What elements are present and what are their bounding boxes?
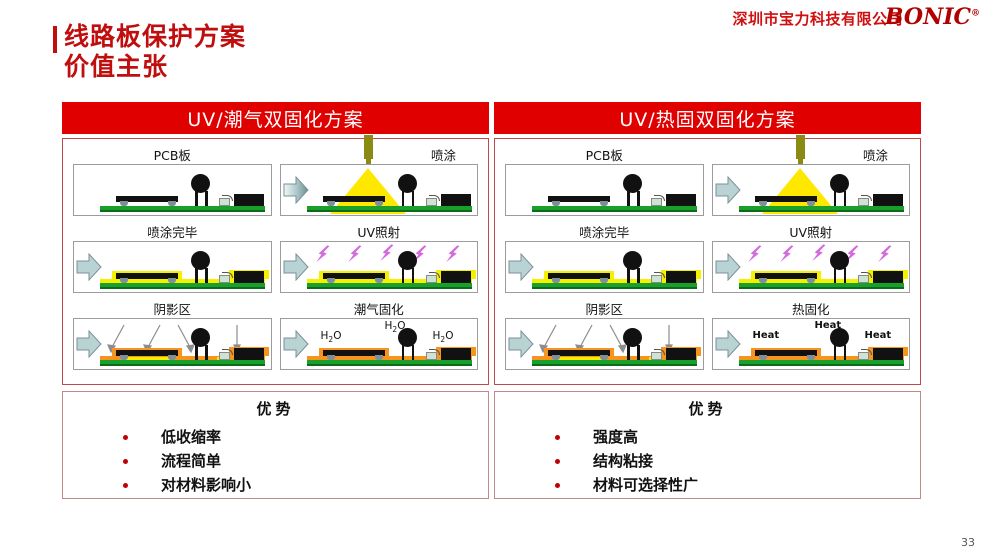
pcb-diagram-uv xyxy=(712,241,911,293)
capacitor-leg-left xyxy=(402,268,405,283)
capacitor-leg-right xyxy=(205,191,208,206)
pcb-board-shadow xyxy=(100,364,265,366)
capacitor-leg-right xyxy=(412,268,415,283)
smd-wire xyxy=(861,349,872,355)
flow-arrow-icon xyxy=(283,253,309,281)
process-step-spray-done: 喷涂完毕 xyxy=(69,222,276,299)
process-step-uv: UV照射 xyxy=(708,222,915,299)
ic-leg-left xyxy=(759,355,767,360)
capacitor-leg-left xyxy=(195,268,198,283)
smd-wire xyxy=(654,272,665,278)
flow-arrow-icon xyxy=(76,253,102,281)
ic-leg-right xyxy=(375,201,383,206)
advantage-item: 材料可选择性广 xyxy=(555,473,920,497)
column-heading-left: UV/潮气双固化方案 xyxy=(62,102,489,134)
step-label: 喷涂 xyxy=(712,147,911,164)
ic-leg-right xyxy=(600,201,608,206)
pcb-board-shadow xyxy=(532,210,697,212)
process-step-shadow: 阴影区 xyxy=(69,299,276,376)
flow-arrow-icon xyxy=(283,176,309,204)
capacitor-leg-left xyxy=(195,191,198,206)
step-label: 阴影区 xyxy=(73,301,272,318)
ic-leg-left xyxy=(327,278,335,283)
advantage-item: 流程简单 xyxy=(123,449,488,473)
capacitor-leg-right xyxy=(637,268,640,283)
chip-component xyxy=(234,348,264,360)
ic-leg-right xyxy=(807,355,815,360)
ic-leg-left xyxy=(327,201,335,206)
smd-wire xyxy=(654,349,665,355)
ic-leg-right xyxy=(168,278,176,283)
uv-bolt-icon xyxy=(809,242,827,265)
chip-component xyxy=(873,194,903,206)
ic-leg-right xyxy=(807,201,815,206)
process-step-spray: 喷涂 xyxy=(708,145,915,222)
process-step-shadow: 阴影区 xyxy=(501,299,708,376)
capacitor-leg-right xyxy=(412,345,415,360)
pcb-diagram-cure: Heat Heat Heat xyxy=(712,318,911,370)
registered-mark-icon: ® xyxy=(971,9,980,19)
ic-leg-left xyxy=(327,355,335,360)
capacitor-leg-right xyxy=(205,345,208,360)
smd-wire xyxy=(861,272,872,278)
smd-wire xyxy=(222,272,233,278)
uv-bolt-icon xyxy=(777,243,795,266)
process-step-cure: 热固化 Heat Heat Heat xyxy=(708,299,915,376)
pcb-diagram-coated xyxy=(73,241,272,293)
chip-component xyxy=(234,271,264,283)
capacitor-leg-right xyxy=(844,268,847,283)
process-panel-left: PCB板 喷涂 xyxy=(62,138,489,385)
column-uv-thermal: UV/热固双固化方案 PCB板 xyxy=(494,102,921,499)
advantage-item: 对材料影响小 xyxy=(123,473,488,497)
pcb-board-shadow xyxy=(307,287,472,289)
pcb-board-shadow xyxy=(532,364,697,366)
chip-component xyxy=(441,348,471,360)
step-label: 喷涂完毕 xyxy=(73,224,272,241)
column-heading-right: UV/热固双固化方案 xyxy=(494,102,921,134)
process-panel-right: PCB板 喷涂 xyxy=(494,138,921,385)
smd-wire xyxy=(861,195,872,201)
process-step-cure: 潮气固化 H2O H2O H2O xyxy=(276,299,483,376)
ic-leg-left xyxy=(552,355,560,360)
advantages-list: 强度高 结构粘接 材料可选择性广 xyxy=(495,425,920,497)
title-accent-bar xyxy=(53,26,57,53)
pcb-diagram-coated xyxy=(505,241,704,293)
advantage-item: 结构粘接 xyxy=(555,449,920,473)
cure-agent-tag-3: Heat xyxy=(865,330,892,341)
spray-nozzle-tip xyxy=(366,158,371,164)
pcb-board-shadow xyxy=(307,210,472,212)
capacitor-leg-left xyxy=(402,191,405,206)
pcb-board-shadow xyxy=(739,364,904,366)
chip-component xyxy=(234,194,264,206)
pcb-board-shadow xyxy=(739,210,904,212)
uv-bolt-icon xyxy=(345,243,363,266)
uv-bolt-icon xyxy=(745,243,763,266)
ic-leg-left xyxy=(120,201,128,206)
flow-arrow-icon xyxy=(715,330,741,358)
spray-nozzle xyxy=(364,135,373,159)
smd-wire xyxy=(222,195,233,201)
uv-bolt-icon xyxy=(875,243,893,266)
ic-leg-right xyxy=(168,201,176,206)
column-uv-moisture: UV/潮气双固化方案 PCB板 xyxy=(62,102,489,499)
chip-component xyxy=(441,194,471,206)
advantages-box-left: 优势 低收缩率 流程简单 对材料影响小 xyxy=(62,391,489,499)
uncured-shadow-zone-ic xyxy=(554,357,602,360)
capacitor-leg-right xyxy=(205,268,208,283)
pcb-diagram-shadow xyxy=(73,318,272,370)
process-step-uv: UV照射 xyxy=(276,222,483,299)
capacitor-leg-right xyxy=(844,191,847,206)
uv-bolt-icon xyxy=(443,243,461,266)
capacitor-leg-left xyxy=(834,191,837,206)
capacitor-leg-right xyxy=(637,345,640,360)
capacitor-leg-right xyxy=(637,191,640,206)
process-step-pcb: PCB板 xyxy=(69,145,276,222)
uncured-shadow-zone-ic xyxy=(122,357,170,360)
pcb-board-shadow xyxy=(307,364,472,366)
step-label: 喷涂完毕 xyxy=(505,224,704,241)
chip-component xyxy=(666,348,696,360)
pcb-diagram-uv xyxy=(280,241,479,293)
capacitor-leg-left xyxy=(834,345,837,360)
pcb-diagram-cure: H2O H2O H2O xyxy=(280,318,479,370)
flow-arrow-icon xyxy=(715,253,741,281)
ic-leg-right xyxy=(807,278,815,283)
ic-leg-left xyxy=(759,278,767,283)
flow-arrow-icon xyxy=(715,176,741,204)
ic-leg-left xyxy=(552,201,560,206)
cure-agent-tag-1: H2O xyxy=(321,330,342,344)
process-step-spray-done: 喷涂完毕 xyxy=(501,222,708,299)
smd-wire xyxy=(429,272,440,278)
capacitor-leg-left xyxy=(627,191,630,206)
step-label: 潮气固化 xyxy=(280,301,479,318)
uv-bolt-icon xyxy=(313,243,331,266)
spray-nozzle xyxy=(796,135,805,159)
uv-bolt-icon xyxy=(377,242,395,265)
capacitor-leg-left xyxy=(627,268,630,283)
smd-wire xyxy=(222,349,233,355)
advantages-title: 优势 xyxy=(495,398,920,419)
brand-text: BONIC xyxy=(885,4,971,30)
ic-leg-left xyxy=(120,278,128,283)
pcb-board-shadow xyxy=(532,287,697,289)
pcb-diagram-shadow xyxy=(505,318,704,370)
advantage-item: 强度高 xyxy=(555,425,920,449)
capacitor-leg-right xyxy=(412,191,415,206)
ic-leg-right xyxy=(600,278,608,283)
chip-component xyxy=(666,271,696,283)
chip-component xyxy=(441,271,471,283)
capacitor-leg-left xyxy=(195,345,198,360)
smd-wire xyxy=(429,349,440,355)
step-label: 热固化 xyxy=(712,301,911,318)
step-label: UV照射 xyxy=(712,224,911,241)
chip-component xyxy=(873,348,903,360)
company-name: 深圳市宝力科技有限公司 xyxy=(732,8,903,29)
capacitor-leg-left xyxy=(834,268,837,283)
advantages-title: 优势 xyxy=(63,398,488,419)
pcb-board-shadow xyxy=(100,287,265,289)
pcb-board-shadow xyxy=(100,210,265,212)
ic-leg-left xyxy=(120,355,128,360)
ic-leg-right xyxy=(375,278,383,283)
ic-leg-left xyxy=(552,278,560,283)
ic-leg-right xyxy=(600,355,608,360)
brand-logo: BONIC® xyxy=(885,4,980,30)
advantages-box-right: 优势 强度高 结构粘接 材料可选择性广 xyxy=(494,391,921,499)
chip-component xyxy=(666,194,696,206)
chip-component xyxy=(873,271,903,283)
ic-leg-right xyxy=(168,355,176,360)
step-label: UV照射 xyxy=(280,224,479,241)
process-step-pcb: PCB板 xyxy=(501,145,708,222)
ic-leg-left xyxy=(759,201,767,206)
capacitor-leg-right xyxy=(844,345,847,360)
flow-arrow-icon xyxy=(508,253,534,281)
pcb-board-shadow xyxy=(739,287,904,289)
smd-wire xyxy=(654,195,665,201)
pcb-diagram-bare xyxy=(73,164,272,216)
advantage-item: 低收缩率 xyxy=(123,425,488,449)
ic-leg-right xyxy=(375,355,383,360)
capacitor-leg-left xyxy=(402,345,405,360)
process-step-spray: 喷涂 xyxy=(276,145,483,222)
pcb-diagram-bare xyxy=(505,164,704,216)
spray-nozzle-tip xyxy=(798,158,803,164)
step-label: 阴影区 xyxy=(505,301,704,318)
step-label: 喷涂 xyxy=(280,147,479,164)
smd-wire xyxy=(429,195,440,201)
advantages-list: 低收缩率 流程简单 对材料影响小 xyxy=(63,425,488,497)
cure-agent-tag-1: Heat xyxy=(753,330,780,341)
page-title: 线路板保护方案 价值主张 xyxy=(64,22,246,82)
step-label: PCB板 xyxy=(505,147,704,164)
pcb-diagram-spray xyxy=(280,164,479,216)
step-label: PCB板 xyxy=(73,147,272,164)
cure-agent-tag-3: H2O xyxy=(433,330,454,344)
flow-arrow-icon xyxy=(283,330,309,358)
capacitor-leg-left xyxy=(627,345,630,360)
page-number: 33 xyxy=(961,536,975,549)
pcb-diagram-spray xyxy=(712,164,911,216)
